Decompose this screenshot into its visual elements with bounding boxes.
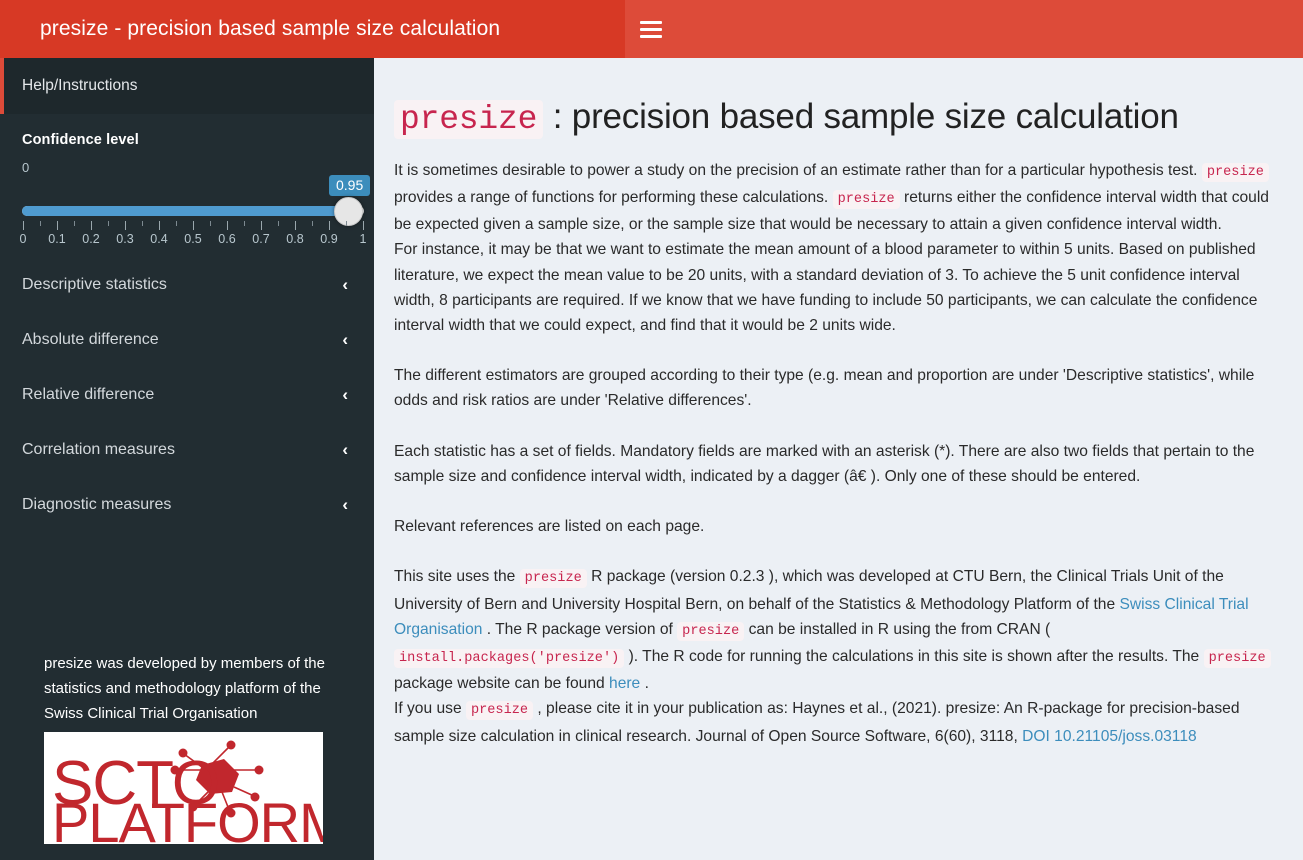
title-code-chip: presize	[394, 100, 543, 139]
sidebar-footer: presize was developed by members of the …	[0, 651, 374, 860]
slider-tick-label: 0.5	[184, 231, 201, 247]
pkg-sentence-4: can be installed in R using the from CRA…	[744, 621, 1050, 638]
slider-tick	[244, 221, 245, 226]
page-title: presize : precision based sample size ca…	[394, 92, 1281, 144]
sidebar-footer-text: presize was developed by members of the …	[44, 651, 344, 726]
main-content: presize : precision based sample size ca…	[374, 58, 1303, 860]
pkg-sentence-1: This site uses the	[394, 568, 520, 585]
code-chip-presize-4: presize	[677, 622, 744, 641]
slider-tick	[210, 221, 211, 226]
slider-tick	[329, 221, 330, 230]
slider-tick	[142, 221, 143, 226]
paragraph-fields: Each statistic has a set of fields. Mand…	[394, 439, 1281, 489]
slider-fill	[22, 206, 340, 216]
app-title: presize - precision based sample size ca…	[0, 0, 625, 58]
sidebar: Help/Instructions Confidence level 0 0.9…	[0, 58, 374, 860]
chevron-left-icon: ‹	[342, 496, 348, 513]
sidebar-item-label: Correlation measures	[22, 441, 175, 459]
slider-ticks	[22, 221, 364, 230]
confidence-level-slider[interactable]: 0.95 00.10.20.30.40.50.60.70.80.91	[22, 179, 352, 241]
scto-platforms-logo: SCTO PLATFORMS	[44, 732, 323, 844]
slider-tick	[74, 221, 75, 226]
title-rest: : precision based sample size calculatio…	[543, 97, 1179, 136]
slider-tick	[40, 221, 41, 226]
slider-tick	[57, 221, 58, 230]
chevron-left-icon: ‹	[342, 276, 348, 293]
pkg-sentence-3: . The R package version of	[482, 621, 677, 638]
slider-tick-label: 0.4	[150, 231, 167, 247]
hamburger-icon[interactable]	[625, 0, 677, 58]
sidebar-item-descriptive-statistics[interactable]: Descriptive statistics‹	[0, 257, 374, 312]
code-chip-presize-2: presize	[833, 190, 900, 209]
scto-logo-svg: SCTO PLATFORMS	[44, 732, 323, 844]
chevron-left-icon: ‹	[342, 441, 348, 458]
sidebar-item-absolute-difference[interactable]: Absolute difference‹	[0, 312, 374, 367]
link-doi[interactable]: DOI 10.21105/joss.03118	[1022, 728, 1197, 745]
intro-sentence-1: It is sometimes desirable to power a stu…	[394, 162, 1197, 179]
slider-tick	[312, 221, 313, 226]
chevron-left-icon: ‹	[342, 331, 348, 348]
slider-tick	[193, 221, 194, 230]
slider-tick-label: 1	[360, 231, 367, 247]
code-chip-presize-5: presize	[1204, 649, 1271, 668]
slider-tick-label: 0	[20, 231, 27, 247]
sidebar-item-label: Relative difference	[22, 386, 154, 404]
code-chip-presize-6: presize	[466, 701, 533, 720]
confidence-level-label: Confidence level	[22, 132, 352, 148]
sidebar-item-correlation-measures[interactable]: Correlation measures‹	[0, 422, 374, 477]
slider-tick	[278, 221, 279, 226]
sidebar-item-relative-difference[interactable]: Relative difference‹	[0, 367, 374, 422]
hamburger-bar-1	[640, 21, 662, 24]
intro-sentence-4: For instance, it may be that we want to …	[394, 241, 1257, 334]
paragraph-estimators: The different estimators are grouped acc…	[394, 363, 1281, 413]
slider-tick	[23, 221, 24, 230]
pkg-sentence-6: package website can be found	[394, 675, 609, 692]
slider-tick-label: 0.1	[48, 231, 65, 247]
slider-tick	[295, 221, 296, 230]
slider-tick	[227, 221, 228, 230]
slider-tick-label: 0.3	[116, 231, 133, 247]
sidebar-item-label: Absolute difference	[22, 331, 159, 349]
code-chip-presize-3: presize	[520, 569, 587, 588]
slider-tick-label: 0.7	[252, 231, 269, 247]
slider-tick-label: 0.2	[82, 231, 99, 247]
pkg-sentence-7: .	[640, 675, 649, 692]
pkg-sentence-5: ). The R code for running the calculatio…	[624, 648, 1203, 665]
slider-value-tooltip: 0.95	[329, 175, 370, 196]
confidence-level-block: Confidence level 0 0.95 00.10.20.30.40.5…	[0, 114, 374, 245]
slider-tick	[261, 221, 262, 230]
svg-text:PLATFORMS: PLATFORMS	[52, 791, 323, 844]
slider-tick	[108, 221, 109, 226]
cite-sentence-1: If you use	[394, 700, 466, 717]
slider-tick	[91, 221, 92, 230]
slider-tick-label: 0.9	[320, 231, 337, 247]
slider-tick	[363, 221, 364, 230]
paragraph-package-info: This site uses the presize R package (ve…	[394, 564, 1281, 748]
slider-tick	[159, 221, 160, 230]
sidebar-item-label: Diagnostic measures	[22, 496, 171, 514]
code-chip-install-packages: install.packages('presize')	[394, 649, 624, 668]
app-root: presize - precision based sample size ca…	[0, 0, 1303, 860]
paragraph-references: Relevant references are listed on each p…	[394, 514, 1281, 539]
sidebar-item-label: Descriptive statistics	[22, 276, 167, 294]
link-here[interactable]: here	[609, 675, 640, 692]
chevron-left-icon: ‹	[342, 386, 348, 403]
slider-tick-label: 0.6	[218, 231, 235, 247]
slider-tick	[176, 221, 177, 226]
intro-sentence-2: provides a range of functions for perfor…	[394, 189, 833, 206]
sidebar-item-label: Help/Instructions	[22, 77, 137, 95]
sidebar-item-diagnostic-measures[interactable]: Diagnostic measures‹	[0, 477, 374, 532]
hamburger-bar-3	[640, 35, 662, 38]
sidebar-menu: Descriptive statistics‹Absolute differen…	[0, 257, 374, 532]
slider-tick	[125, 221, 126, 230]
hamburger-bar-2	[640, 28, 662, 31]
slider-tick-labels: 00.10.20.30.40.50.60.70.80.91	[22, 231, 364, 247]
sidebar-item-help-instructions[interactable]: Help/Instructions	[0, 58, 374, 114]
header-bar	[625, 0, 1303, 58]
code-chip-presize-1: presize	[1202, 163, 1269, 182]
slider-min-value: 0	[22, 160, 352, 175]
paragraph-intro: It is sometimes desirable to power a stu…	[394, 158, 1281, 338]
app-header: presize - precision based sample size ca…	[0, 0, 1303, 58]
slider-tick	[346, 221, 347, 226]
body-row: Help/Instructions Confidence level 0 0.9…	[0, 58, 1303, 860]
slider-tick-label: 0.8	[286, 231, 303, 247]
